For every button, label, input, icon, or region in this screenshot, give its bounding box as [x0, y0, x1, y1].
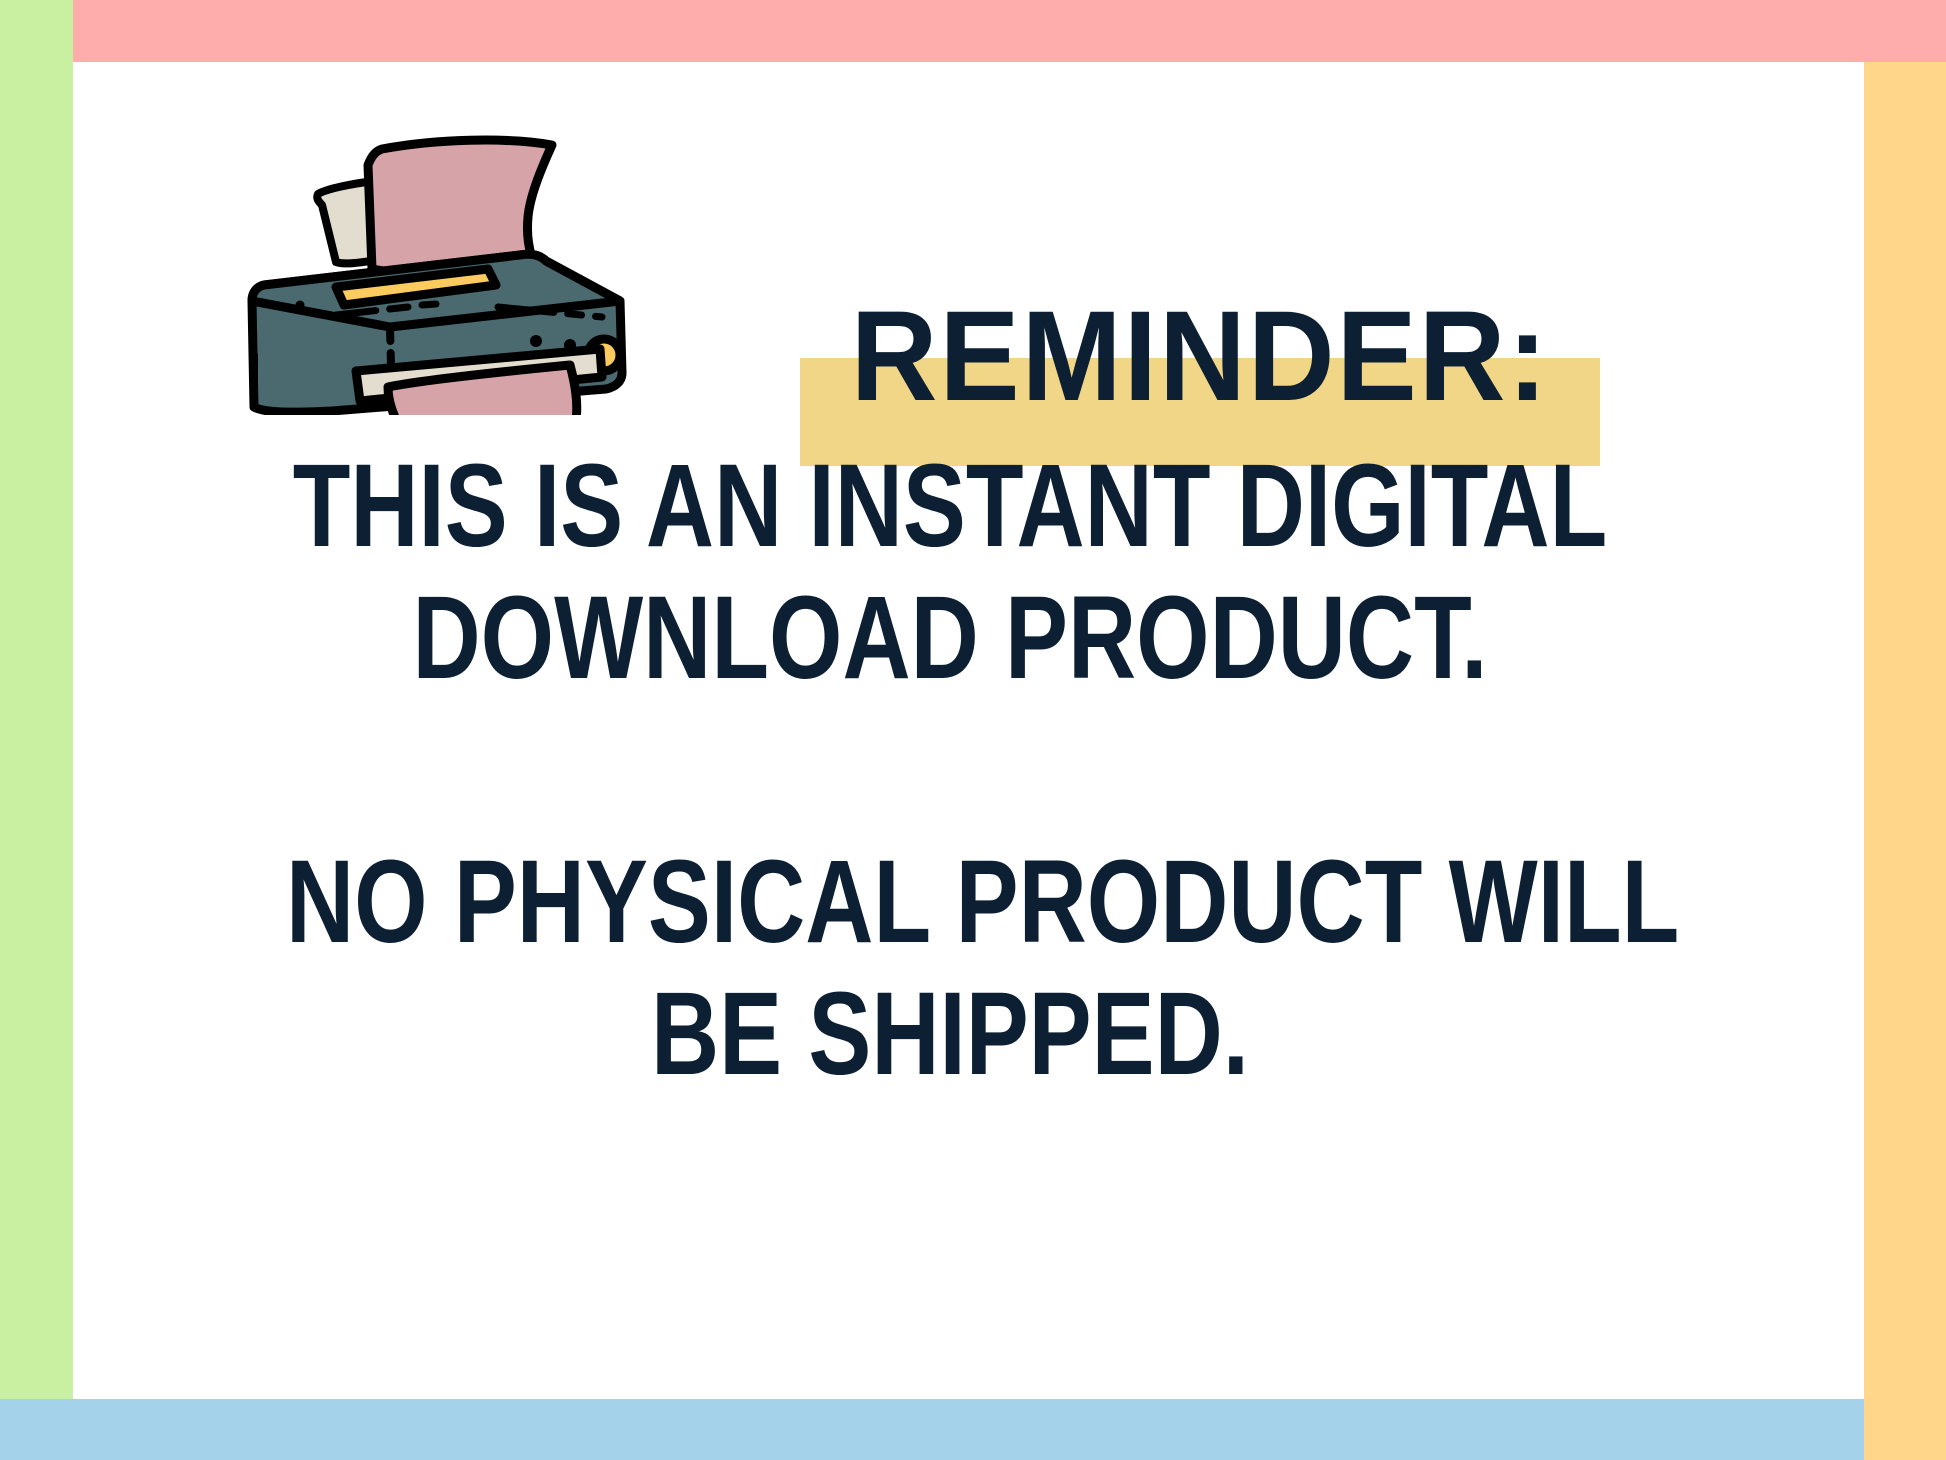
left-color-band	[0, 0, 73, 1399]
body-line-2: DOWNLOAD PRODUCT.	[286, 572, 1614, 704]
body-line-3: NO PHYSICAL PRODUCT WILL	[286, 836, 1614, 968]
top-color-band	[73, 0, 1946, 62]
body-copy-block: THIS IS AN INSTANT DIGITAL DOWNLOAD PROD…	[120, 440, 1780, 1100]
body-paragraph-gap	[120, 704, 1780, 836]
printer-icon	[240, 105, 710, 415]
body-line-1: THIS IS AN INSTANT DIGITAL	[286, 440, 1614, 572]
bottom-color-band	[0, 1399, 1864, 1460]
right-color-band	[1864, 62, 1946, 1460]
body-line-4: BE SHIPPED.	[286, 968, 1614, 1100]
page-title: REMINDER:	[824, 282, 1576, 432]
poster-canvas: REMINDER: THIS IS AN INSTANT DIGITAL DOW…	[0, 0, 1946, 1460]
